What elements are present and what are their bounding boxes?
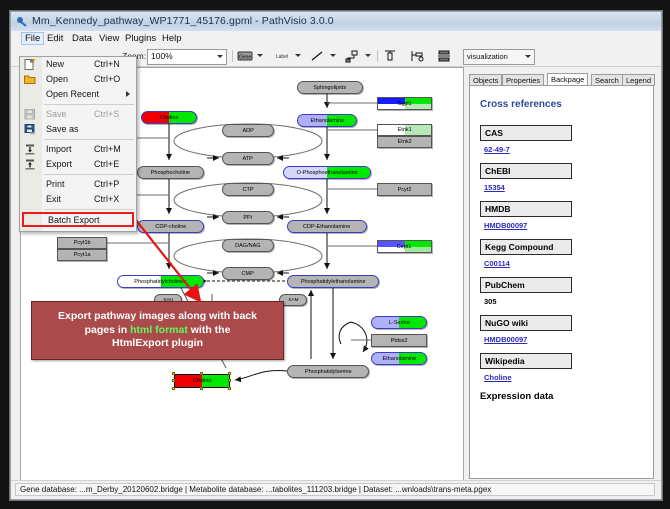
menu-item-accel: Ctrl+M: [94, 144, 121, 154]
menu-item-label: Export: [46, 159, 72, 169]
xref-source-label: ChEBI: [485, 166, 511, 176]
cross-references-heading: Cross references: [480, 99, 562, 110]
datanode-tool-button[interactable]: Gene: [237, 49, 253, 63]
pathway-node-cdp-choline[interactable]: CDP-choline: [137, 220, 204, 233]
annotation-line2c: with the: [188, 324, 231, 336]
zoom-value: 100%: [151, 51, 173, 61]
line-dropdown-icon[interactable]: [330, 54, 336, 57]
save-disk-icon: [24, 109, 36, 120]
pathway-node-cmp[interactable]: CMP: [222, 267, 274, 280]
line-tool-button[interactable]: [310, 49, 324, 63]
menu-separator-4: [44, 209, 134, 210]
file-menu-item-import[interactable]: Import Ctrl+M: [20, 142, 136, 157]
file-menu-item-new[interactable]: New Ctrl+N: [20, 57, 136, 72]
menu-separator-3: [44, 174, 134, 175]
pathway-node-ctp[interactable]: CTP: [222, 183, 274, 196]
xref-source-hmdb: HMDB: [480, 201, 572, 217]
node-label: DAG/NAG: [235, 243, 260, 249]
node-label: Ptdss2: [391, 338, 408, 344]
pathway-node-adp[interactable]: ADP: [222, 124, 274, 137]
menu-item-accel: Ctrl+S: [94, 109, 119, 119]
node-label: SAM: [288, 298, 298, 303]
annotation-text: Export pathway images along with back pa…: [58, 310, 257, 350]
xref-source-cas: CAS: [480, 125, 572, 141]
pathway-node-sphingolipids[interactable]: Sphingolipids: [297, 81, 363, 94]
menu-item-label: Open: [46, 74, 68, 84]
xref-source-wikipedia: Wikipedia: [480, 353, 572, 369]
menu-item-label: Print: [46, 179, 65, 189]
xref-source-label: PubChem: [485, 280, 525, 290]
visualization-combo[interactable]: visualization: [463, 49, 535, 65]
node-label: Choline: [193, 378, 212, 384]
menu-plugins[interactable]: Plugins: [121, 32, 160, 45]
annotation-line1: Export pathway images along with back: [58, 310, 257, 322]
menu-bar: File Edit Data View Plugins Help: [11, 31, 661, 47]
menu-separator-2: [44, 139, 134, 140]
node-label: ATP: [243, 156, 253, 162]
selection-handle[interactable]: [228, 387, 231, 390]
xref-source-label: Kegg Compound: [485, 242, 553, 252]
menu-item-label: Save: [46, 109, 67, 119]
file-menu-item-export[interactable]: Export Ctrl+E: [20, 157, 136, 172]
xref-value-chebi[interactable]: 15354: [484, 183, 505, 192]
menu-item-label: Exit: [46, 194, 61, 204]
datanode-dropdown-icon[interactable]: [257, 54, 263, 57]
node-label: Sphingolipids: [314, 85, 347, 91]
menu-file[interactable]: File: [21, 32, 44, 45]
label-tool-button[interactable]: Label: [273, 49, 291, 63]
export-icon: [24, 159, 36, 170]
chevron-down-icon: [217, 55, 223, 58]
xref-value-nugo[interactable]: HMDB00097: [484, 335, 527, 344]
menu-item-label: Open Recent: [46, 89, 99, 99]
selection-handle[interactable]: [172, 379, 175, 382]
align-top-tool-button[interactable]: [383, 49, 397, 63]
title-bar: Mm_Kennedy_pathway_WP1771_45176.gpml - P…: [11, 12, 661, 32]
menu-help[interactable]: Help: [158, 32, 186, 45]
expression-data-heading: Expression data: [480, 391, 553, 402]
pathway-node-phosphatidylserine[interactable]: Phosphatidylserine: [287, 365, 369, 378]
menu-separator: [44, 104, 134, 105]
pathway-node-ethanolamine-top[interactable]: Ethanolamine: [297, 114, 357, 127]
visualization-value: visualization: [467, 52, 508, 61]
align-left-tool-button[interactable]: [410, 49, 424, 63]
pathway-node-ethanolamine-bottom[interactable]: Ethanolamine: [371, 352, 427, 365]
xref-value-pubchem: 305: [484, 297, 497, 306]
file-menu-item-print[interactable]: Print Ctrl+P: [20, 177, 136, 192]
node-label: Ethanolamine: [382, 356, 416, 362]
menu-item-accel: Ctrl+P: [94, 179, 119, 189]
toolbar-separator-2: [377, 50, 378, 62]
pathway-node-atp[interactable]: ATP: [222, 152, 274, 165]
pathway-node-l-serine[interactable]: L-Serine: [371, 316, 427, 329]
selection-handle[interactable]: [172, 387, 175, 390]
xref-source-label: HMDB: [485, 204, 511, 214]
pathway-node-cdp-ethanolamine[interactable]: CDP-Ethanolamine: [287, 220, 367, 233]
pathway-node-dag-nag[interactable]: DAG/NAG: [222, 239, 274, 252]
file-menu-item-open[interactable]: Open Ctrl+O: [20, 72, 136, 87]
pathway-node-etnk2[interactable]: Etnk2: [377, 136, 432, 148]
xref-source-label: Wikipedia: [485, 356, 525, 366]
node-label: O-Phosphoethanolamine: [296, 170, 357, 176]
pathway-node-o-phosphoethanolamine[interactable]: O-Phosphoethanolamine: [283, 166, 371, 179]
annotation-line2a: pages in: [85, 324, 131, 336]
anchor-dropdown-icon[interactable]: [365, 54, 371, 57]
menu-edit[interactable]: Edit: [43, 32, 67, 45]
node-label: Choline: [160, 115, 179, 121]
xref-value-hmdb[interactable]: HMDB00097: [484, 221, 527, 230]
xref-source-chebi: ChEBI: [480, 163, 572, 179]
pathvisio-icon: [16, 16, 28, 28]
selection-handle[interactable]: [172, 372, 175, 375]
node-label: ADP: [242, 128, 253, 134]
node-label: CTP: [242, 187, 253, 193]
toolbar-separator: [232, 50, 233, 62]
selection-handle[interactable]: [200, 372, 203, 375]
menu-data[interactable]: Data: [68, 32, 96, 45]
node-label: CDP-Ethanolamine: [303, 224, 350, 230]
node-label: Phosphatidylcholines: [135, 279, 187, 285]
xref-source-kegg: Kegg Compound: [480, 239, 572, 255]
status-bar-text: Gene database: ...m_Derby_20120602.bridg…: [20, 485, 491, 494]
pathway-node-choline-top[interactable]: Choline: [141, 111, 197, 124]
status-bar-field: Gene database: ...m_Derby_20120602.bridg…: [15, 483, 655, 496]
annotation-line3: HtmlExport plugin: [112, 337, 203, 349]
menu-item-accel: Ctrl+O: [94, 74, 120, 84]
node-label: CDP-choline: [155, 224, 186, 230]
selection-handle[interactable]: [228, 372, 231, 375]
menu-item-accel: Ctrl+N: [94, 59, 120, 69]
node-label: CMP: [242, 271, 254, 277]
pathway-node-pcyt1a[interactable]: Pcyt1a: [57, 249, 107, 261]
menu-view[interactable]: View: [95, 32, 123, 45]
annotation-highlight: html format: [130, 324, 188, 336]
distribute-vertical-tool-button[interactable]: [437, 49, 451, 63]
zoom-combo[interactable]: 100%: [147, 49, 227, 65]
xref-source-nugo: NuGO wiki: [480, 315, 572, 331]
pathway-node-sgpl1[interactable]: Sgpl1: [377, 97, 432, 110]
svg-text:Gene: Gene: [239, 55, 251, 61]
menu-item-label: Save as: [46, 124, 79, 134]
pathway-node-phosphocholine[interactable]: Phosphocholine: [137, 166, 204, 179]
xref-value-wikipedia[interactable]: Choline: [484, 373, 512, 382]
pathway-node-ppi[interactable]: PPi: [222, 211, 274, 224]
node-label: Cept1: [397, 244, 412, 250]
pathway-node-phosphatidylcholines[interactable]: Phosphatidylcholines: [117, 275, 204, 288]
visualization-chevron-down-icon: [525, 55, 531, 58]
node-label: Pcyt1a: [74, 252, 91, 258]
node-label: Etnk1: [397, 127, 411, 133]
file-menu-item-batch-export[interactable]: Batch Export: [22, 212, 134, 227]
menu-item-label: Import: [46, 144, 72, 154]
side-panel: Objects Properties Backpage Search Legen…: [467, 67, 653, 479]
pathway-node-ptdss2[interactable]: Ptdss2: [371, 334, 427, 347]
submenu-chevron-right-icon: [126, 91, 130, 97]
backpage-content: Cross references CAS 62-49-7 ChEBI 15354…: [469, 85, 654, 479]
file-menu-item-save-as[interactable]: Save as: [20, 122, 136, 137]
xref-source-pubchem: PubChem: [480, 277, 572, 293]
screenshot-root: Mm_Kennedy_pathway_WP1771_45176.gpml - P…: [0, 0, 670, 509]
menu-item-accel: Ctrl+X: [94, 194, 119, 204]
file-menu-popup[interactable]: New Ctrl+N Open Ctrl+O Open Recent Save …: [19, 56, 137, 232]
annotation-callout: Export pathway images along with back pa…: [31, 301, 284, 360]
node-label: Sgpl1: [397, 101, 411, 107]
menu-item-accel: Ctrl+E: [94, 159, 119, 169]
save-as-icon: [24, 124, 36, 135]
pathway-node-pcyt1b[interactable]: Pcyt1b: [57, 237, 107, 249]
selection-handle[interactable]: [200, 387, 203, 390]
xref-value-cas[interactable]: 62-49-7: [484, 145, 510, 154]
anchor-tool-button[interactable]: [345, 49, 359, 63]
node-label: L-Serine: [389, 320, 410, 326]
pathway-node-etnk1[interactable]: Etnk1: [377, 124, 432, 136]
pathway-node-pcyt2[interactable]: Pcyt2: [377, 183, 432, 196]
node-label: Phosphatidylethanolamine: [301, 279, 366, 285]
xref-source-label: CAS: [485, 128, 503, 138]
pathway-node-cept1[interactable]: Cept1: [377, 240, 432, 253]
xref-value-kegg[interactable]: C00114: [484, 259, 510, 268]
node-label: Pcyt1b: [74, 240, 91, 246]
xref-source-label: NuGO wiki: [485, 318, 528, 328]
menu-item-label: Batch Export: [48, 215, 100, 225]
node-label: Pcyt2: [398, 187, 412, 193]
pathvisio-window: Mm_Kennedy_pathway_WP1771_45176.gpml - P…: [10, 11, 662, 500]
node-label: PPi: [244, 215, 253, 221]
node-label: Phosphocholine: [151, 170, 190, 176]
pathway-node-phosphatidylethanolamine[interactable]: Phosphatidylethanolamine: [287, 275, 379, 288]
status-bar: Gene database: ...m_Derby_20120602.bridg…: [11, 480, 661, 499]
window-title: Mm_Kennedy_pathway_WP1771_45176.gpml - P…: [32, 15, 334, 27]
menu-item-label: New: [46, 59, 64, 69]
node-label: Ethanolamine: [310, 118, 344, 124]
file-menu-item-exit[interactable]: Exit Ctrl+X: [20, 192, 136, 207]
node-label: Etnk2: [397, 139, 411, 145]
pathway-node-choline-bottom[interactable]: Choline: [174, 374, 230, 388]
svg-text:Label: Label: [276, 54, 288, 60]
import-icon: [24, 144, 36, 155]
label-dropdown-icon[interactable]: [295, 54, 301, 57]
file-menu-item-open-recent[interactable]: Open Recent: [20, 87, 136, 102]
file-menu-item-save[interactable]: Save Ctrl+S: [20, 107, 136, 122]
node-label: Phosphatidylserine: [305, 369, 352, 375]
new-file-icon: [24, 59, 36, 70]
open-folder-icon: [24, 74, 36, 85]
selection-handle[interactable]: [228, 379, 231, 382]
